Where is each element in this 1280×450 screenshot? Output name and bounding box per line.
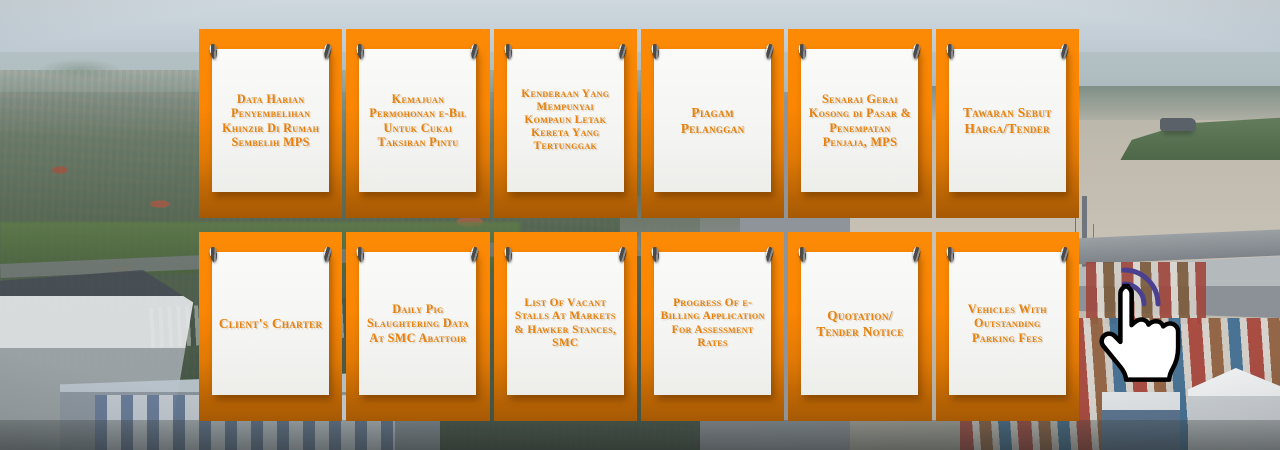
service-card-9[interactable]: List Of Vacant Stalls At Markets & Hawke…: [494, 232, 637, 421]
card-label: List Of Vacant Stalls At Markets & Hawke…: [513, 297, 618, 349]
card-paper: List Of Vacant Stalls At Markets & Hawke…: [507, 252, 624, 395]
pin-icon-left: [209, 247, 218, 263]
service-card-grid: Data Harian Penyembelihan Khinzir Di Rum…: [199, 29, 1079, 421]
pin-icon-left: [504, 247, 513, 263]
card-label: Piagam Pelanggan: [660, 105, 765, 136]
card-label: Senarai Gerai Kosong di Pasar & Penempat…: [807, 92, 912, 148]
card-label: Data Harian Penyembelihan Khinzir Di Rum…: [218, 92, 323, 148]
card-label: Client's Charter: [219, 316, 323, 331]
service-card-12[interactable]: Vehicles With Outstanding Parking Fees: [936, 232, 1079, 421]
card-paper: Kenderaan Yang Mempunyai Kompaun Letak K…: [507, 49, 624, 192]
pin-icon-right: [765, 44, 774, 60]
pin-icon-left: [946, 247, 955, 263]
card-paper: Daily Pig Slaughtering Data At SMC Abatt…: [359, 252, 476, 395]
card-label: Tawaran Sebut Harga/Tender: [955, 105, 1060, 136]
service-card-6[interactable]: Tawaran Sebut Harga/Tender: [936, 29, 1079, 218]
pin-icon-right: [618, 44, 627, 60]
card-label: Vehicles With Outstanding Parking Fees: [955, 302, 1060, 344]
pin-icon-left: [357, 44, 366, 60]
card-paper: Kemajuan Permohonan e-Bil Untuk Cukai Ta…: [359, 49, 476, 192]
card-paper: Piagam Pelanggan: [654, 49, 771, 192]
pin-icon-right: [323, 44, 332, 60]
service-card-11[interactable]: Quotation/ Tender Notice: [788, 232, 931, 421]
card-paper: Quotation/ Tender Notice: [801, 252, 918, 395]
service-card-1[interactable]: Data Harian Penyembelihan Khinzir Di Rum…: [199, 29, 342, 218]
card-label: Progress Of e-Billing Application For As…: [660, 297, 765, 349]
service-card-5[interactable]: Senarai Gerai Kosong di Pasar & Penempat…: [788, 29, 931, 218]
pin-icon-right: [1060, 247, 1069, 263]
pin-icon-left: [209, 44, 218, 60]
service-card-3[interactable]: Kenderaan Yang Mempunyai Kompaun Letak K…: [494, 29, 637, 218]
pin-icon-right: [913, 44, 922, 60]
pin-icon-right: [765, 247, 774, 263]
card-label: Daily Pig Slaughtering Data At SMC Abatt…: [365, 302, 470, 344]
pin-icon-left: [651, 44, 660, 60]
card-paper: Progress Of e-Billing Application For As…: [654, 252, 771, 395]
service-card-4[interactable]: Piagam Pelanggan: [641, 29, 784, 218]
pin-icon-right: [913, 247, 922, 263]
pin-icon-left: [799, 247, 808, 263]
pin-icon-right: [323, 247, 332, 263]
card-paper: Client's Charter: [212, 252, 329, 395]
service-card-2[interactable]: Kemajuan Permohonan e-Bil Untuk Cukai Ta…: [346, 29, 489, 218]
pin-icon-left: [357, 247, 366, 263]
card-paper: Data Harian Penyembelihan Khinzir Di Rum…: [212, 49, 329, 192]
card-paper: Tawaran Sebut Harga/Tender: [949, 49, 1066, 192]
card-paper: Senarai Gerai Kosong di Pasar & Penempat…: [801, 49, 918, 192]
page-stage: Data Harian Penyembelihan Khinzir Di Rum…: [0, 0, 1280, 450]
service-card-8[interactable]: Daily Pig Slaughtering Data At SMC Abatt…: [346, 232, 489, 421]
pin-icon-left: [651, 247, 660, 263]
pin-icon-right: [471, 247, 480, 263]
service-card-7[interactable]: Client's Charter: [199, 232, 342, 421]
pin-icon-right: [618, 247, 627, 263]
pin-icon-right: [1060, 44, 1069, 60]
pin-icon-left: [799, 44, 808, 60]
pin-icon-left: [946, 44, 955, 60]
service-card-10[interactable]: Progress Of e-Billing Application For As…: [641, 232, 784, 421]
card-label: Kemajuan Permohonan e-Bil Untuk Cukai Ta…: [365, 92, 470, 148]
pin-icon-right: [471, 44, 480, 60]
card-label: Quotation/ Tender Notice: [807, 308, 912, 339]
card-paper: Vehicles With Outstanding Parking Fees: [949, 252, 1066, 395]
card-label: Kenderaan Yang Mempunyai Kompaun Letak K…: [513, 88, 618, 153]
pin-icon-left: [504, 44, 513, 60]
